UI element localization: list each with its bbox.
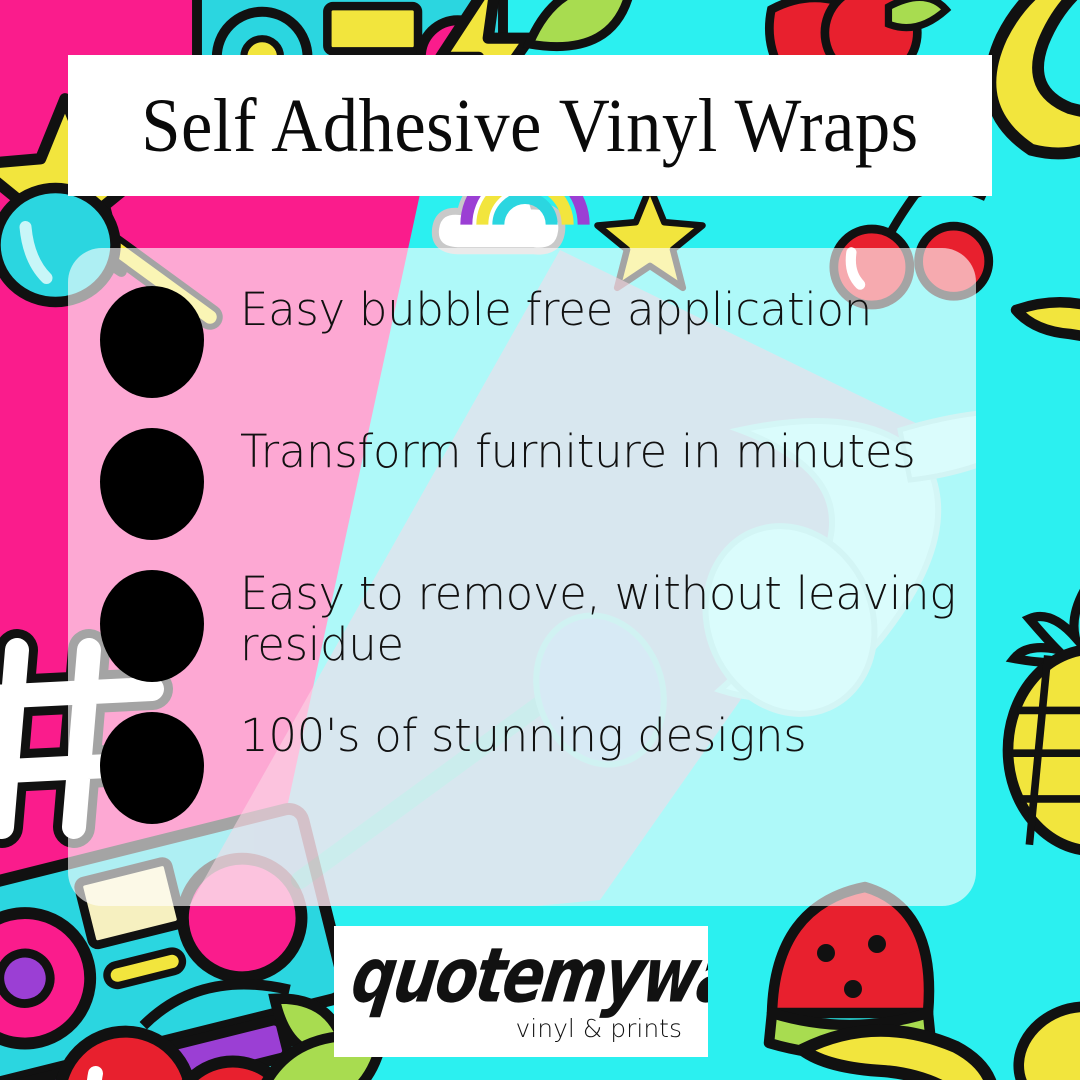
feature-label: Easy to remove, without leaving residue [240, 564, 960, 671]
title-card: Self Adhesive Vinyl Wraps [68, 55, 992, 196]
list-item: 100's of stunning designs [100, 706, 960, 826]
filled-circle-bullet-icon [100, 712, 204, 824]
feature-label: Easy bubble free application [240, 280, 960, 335]
list-item: Easy to remove, without leaving residue [100, 564, 960, 684]
feature-list: Easy bubble free application Transform f… [100, 280, 960, 848]
list-item: Transform furniture in minutes [100, 422, 960, 542]
brand-tagline: vinyl & prints [516, 1016, 682, 1041]
list-item: Easy bubble free application [100, 280, 960, 400]
brand-logo-card: quotemywall vinyl & prints [334, 926, 708, 1057]
filled-circle-bullet-icon [100, 286, 204, 398]
promo-graphic-canvas: Self Adhesive Vinyl Wraps Easy bubble fr… [0, 0, 1080, 1080]
feature-label: Transform furniture in minutes [240, 422, 960, 477]
feature-label: 100's of stunning designs [240, 706, 960, 761]
filled-circle-bullet-icon [100, 428, 204, 540]
brand-name: quotemywall [347, 938, 708, 1014]
page-title: Self Adhesive Vinyl Wraps [141, 88, 918, 164]
filled-circle-bullet-icon [100, 570, 204, 682]
